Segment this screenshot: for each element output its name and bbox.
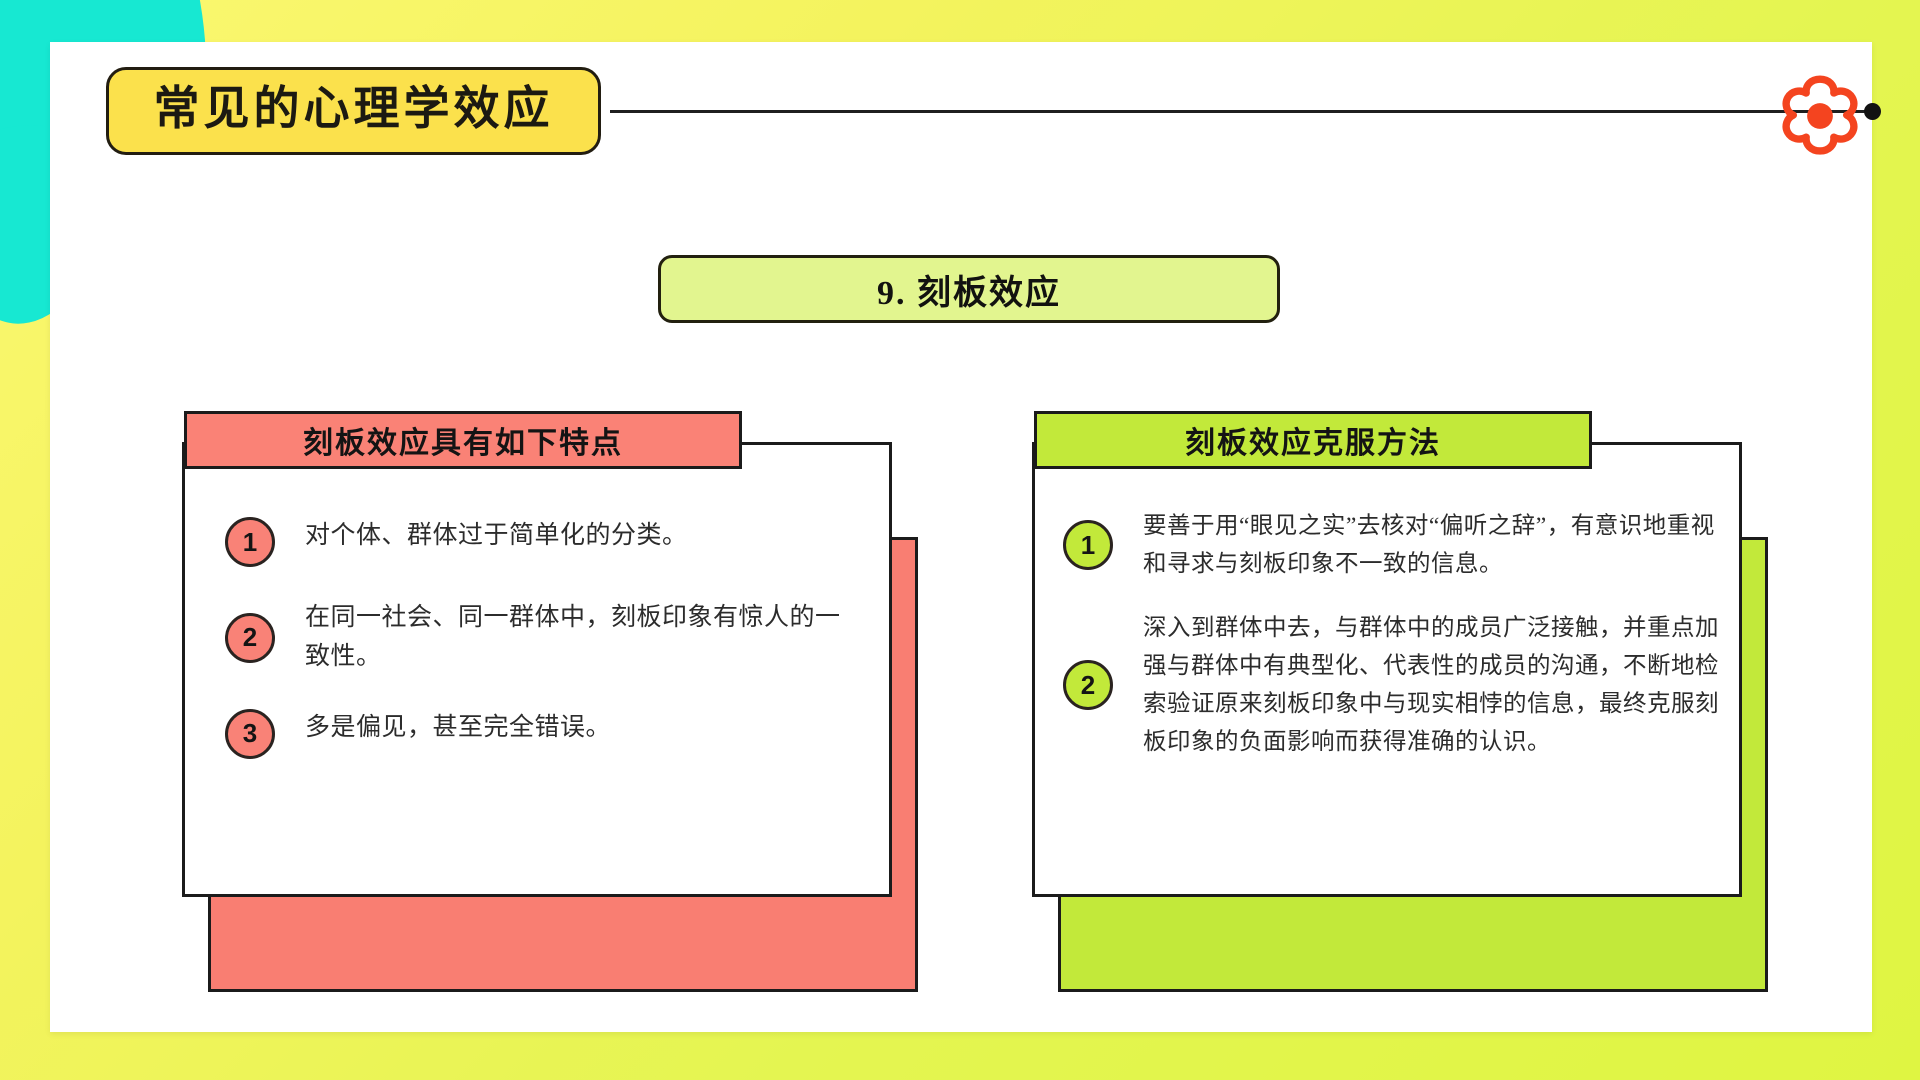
item-number-badge: 1 <box>1063 520 1113 570</box>
slide-content-card: 常见的心理学效应 9. 刻板效应 刻板效应具有如下特点 <box>50 42 1872 1032</box>
item-number-badge: 2 <box>1063 660 1113 710</box>
section-subtitle: 9. 刻板效应 <box>877 265 1061 314</box>
item-text: 深入到群体中去，与群体中的成员广泛接触，并重点加强与群体中有典型化、代表性的成员… <box>1143 609 1723 761</box>
panel-body-remedies: 1 要善于用“眼见之实”去核对“偏听之辞”，有意识地重视和寻求与刻板印象不一致的… <box>1063 495 1723 875</box>
panel-box: 刻板效应具有如下特点 1 对个体、群体过于简单化的分类。 2 在同一社会、同一群… <box>182 442 892 897</box>
section-subtitle-chip: 9. 刻板效应 <box>658 255 1280 323</box>
panel-header-characteristics: 刻板效应具有如下特点 <box>184 411 742 469</box>
panel-header-label: 刻板效应具有如下特点 <box>303 418 623 462</box>
item-text: 多是偏见，甚至完全错误。 <box>305 709 611 748</box>
list-item: 1 要善于用“眼见之实”去核对“偏听之辞”，有意识地重视和寻求与刻板印象不一致的… <box>1063 507 1723 583</box>
panel-header-label: 刻板效应克服方法 <box>1185 418 1441 462</box>
item-text: 在同一社会、同一群体中，刻板印象有惊人的一致性。 <box>305 599 865 677</box>
item-number-badge: 2 <box>225 613 275 663</box>
flower-icon <box>1774 70 1866 162</box>
list-item: 1 对个体、群体过于简单化的分类。 <box>225 517 865 567</box>
list-item: 2 深入到群体中去，与群体中的成员广泛接触，并重点加强与群体中有典型化、代表性的… <box>1063 609 1723 761</box>
header-divider-line <box>610 110 1872 113</box>
item-text: 要善于用“眼见之实”去核对“偏听之辞”，有意识地重视和寻求与刻板印象不一致的信息… <box>1143 507 1723 583</box>
list-item: 2 在同一社会、同一群体中，刻板印象有惊人的一致性。 <box>225 599 865 677</box>
page-title-chip: 常见的心理学效应 <box>106 67 601 155</box>
item-number-badge: 1 <box>225 517 275 567</box>
list-item: 3 多是偏见，甚至完全错误。 <box>225 709 865 759</box>
item-text: 对个体、群体过于简单化的分类。 <box>305 517 688 556</box>
slide-header: 常见的心理学效应 <box>50 42 1872 192</box>
slide-root: 常见的心理学效应 9. 刻板效应 刻板效应具有如下特点 <box>0 0 1920 1080</box>
header-end-dot <box>1864 103 1881 120</box>
panel-box: 刻板效应克服方法 1 要善于用“眼见之实”去核对“偏听之辞”，有意识地重视和寻求… <box>1032 442 1742 897</box>
panel-body-characteristics: 1 对个体、群体过于简单化的分类。 2 在同一社会、同一群体中，刻板印象有惊人的… <box>225 495 865 875</box>
page-title: 常见的心理学效应 <box>154 86 554 136</box>
panel-header-remedies: 刻板效应克服方法 <box>1034 411 1592 469</box>
item-number-badge: 3 <box>225 709 275 759</box>
